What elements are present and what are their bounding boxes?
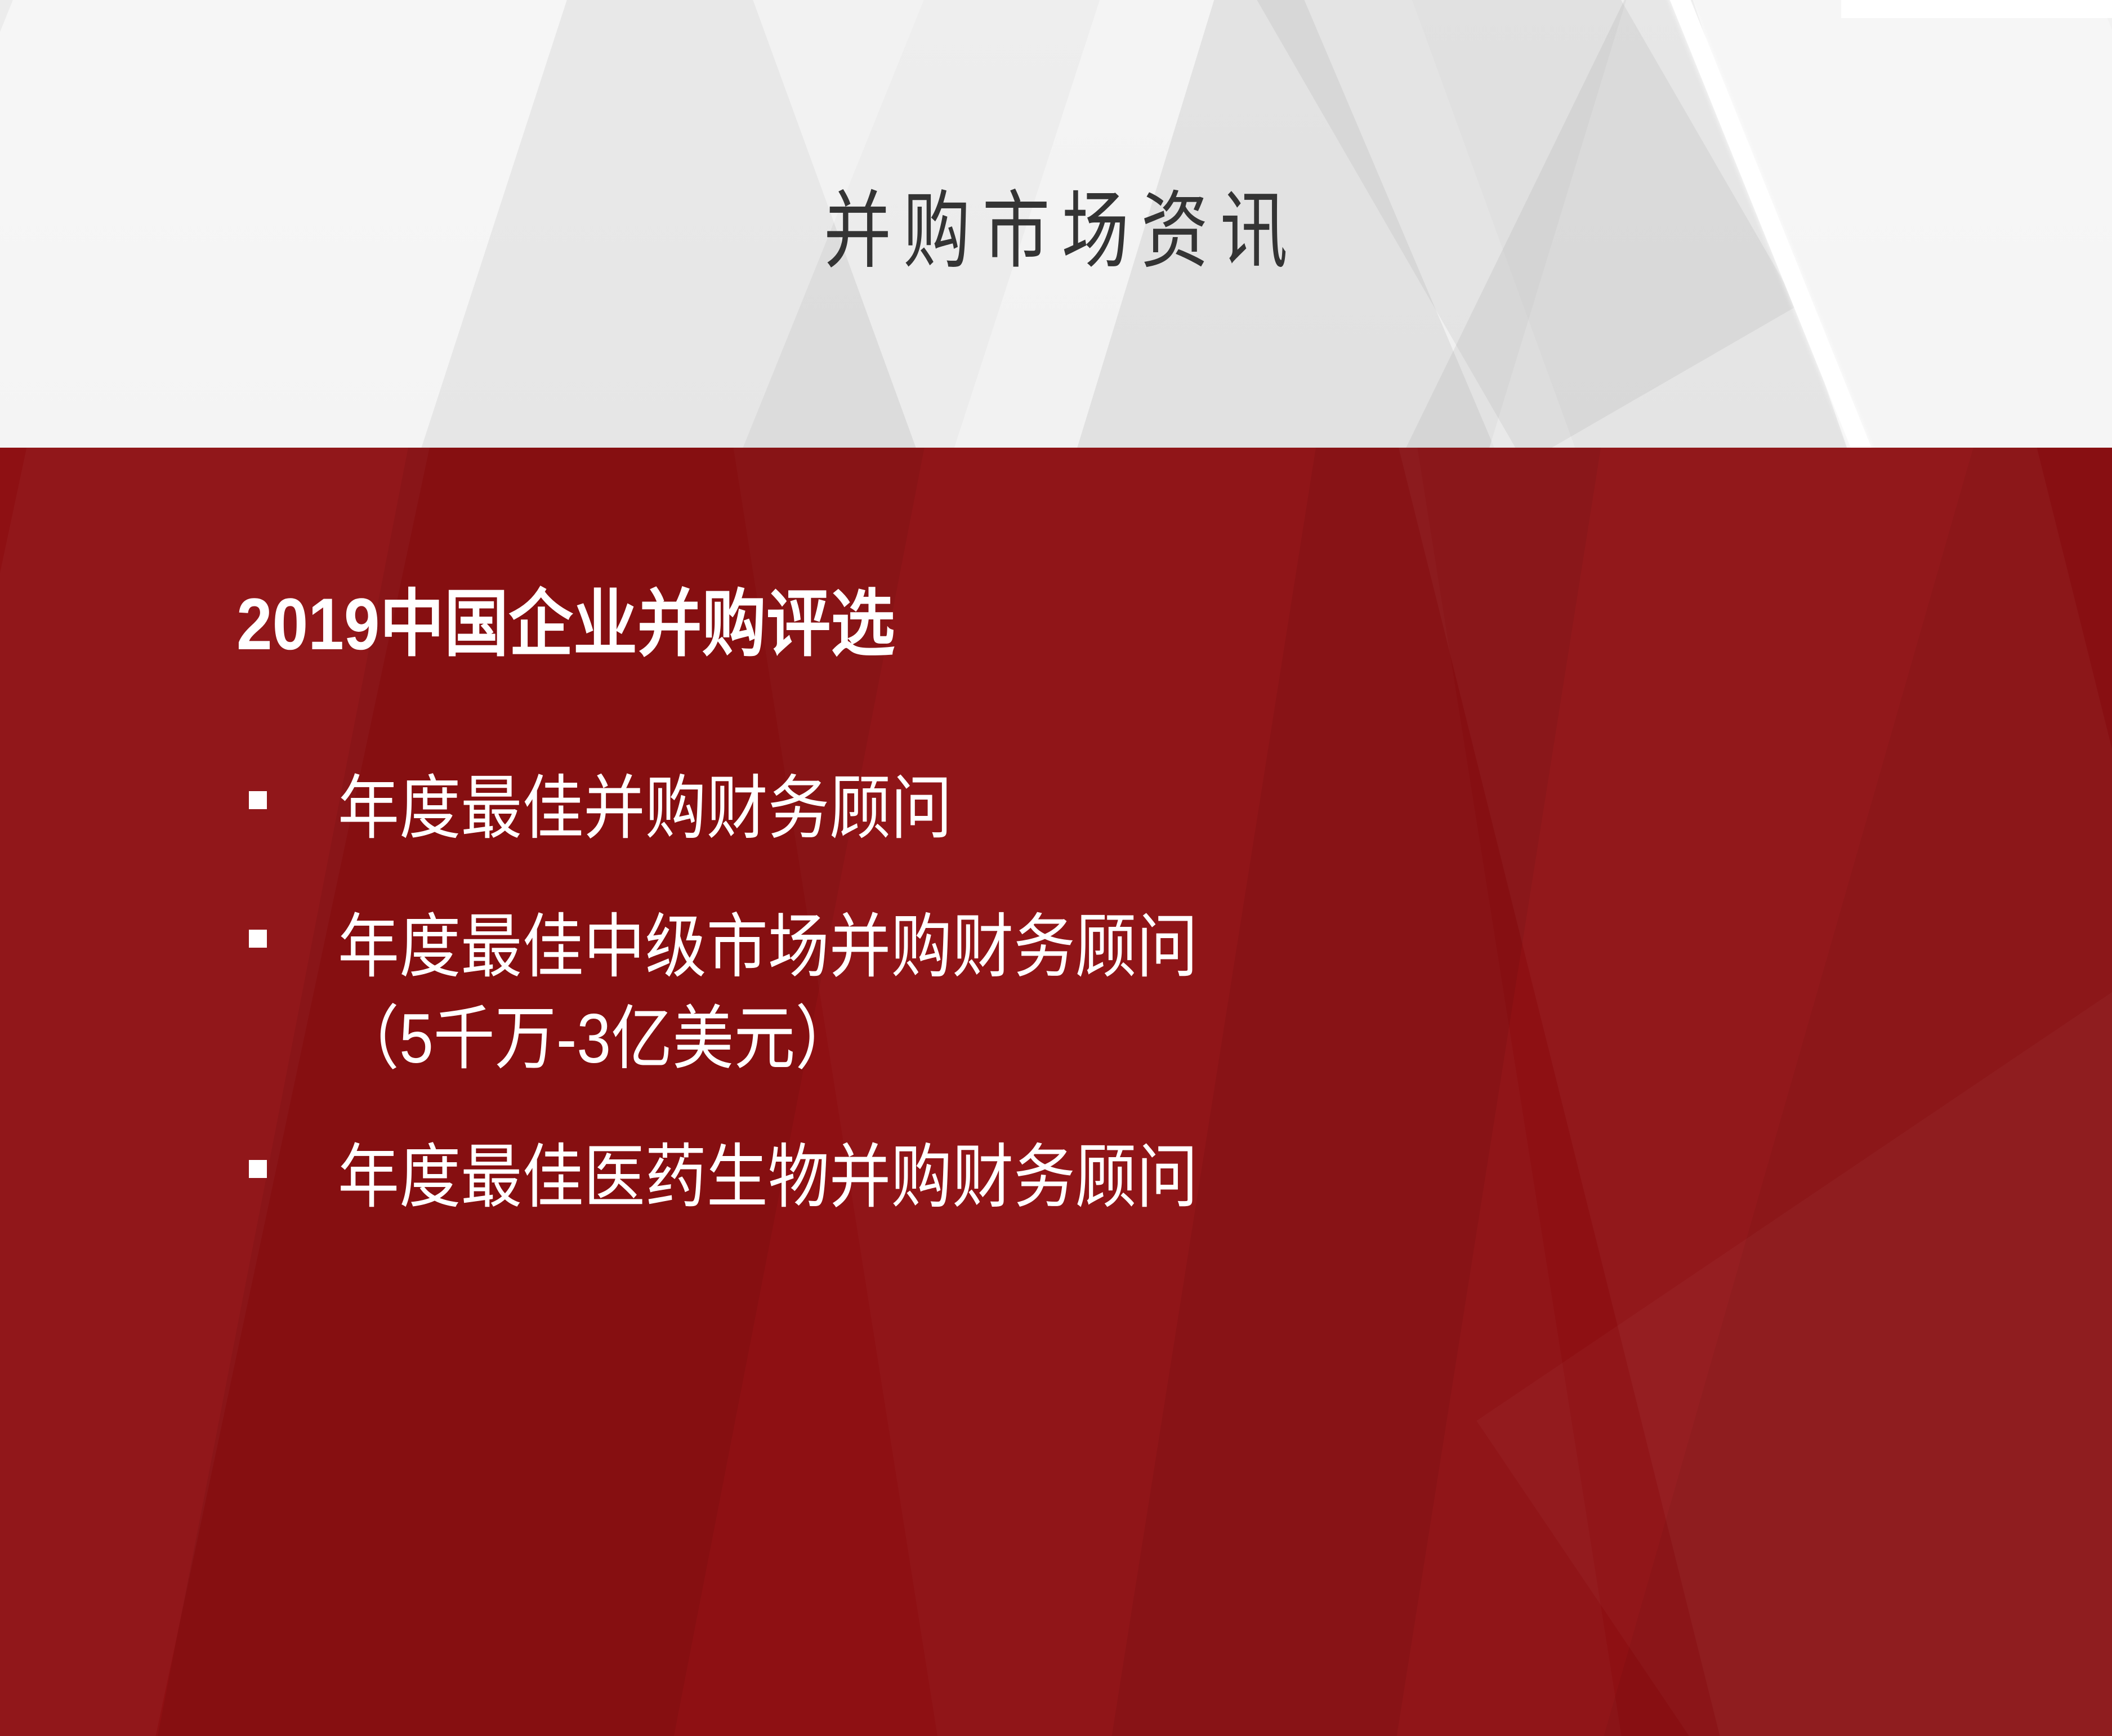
body-content: 2019中国企业并购评选 年度最佳并购财务顾问 年度最佳中级市场并购财务顾问 （…	[0, 448, 2112, 1736]
list-item-label: 年度最佳并购财务顾问	[338, 763, 1785, 855]
list-item: 年度最佳中级市场并购财务顾问 （5千万-3亿美元）	[236, 902, 1982, 1086]
slide-title-text: 并购市场资讯	[812, 175, 1300, 273]
list-item: 年度最佳并购财务顾问	[236, 763, 1982, 855]
list-item: 年度最佳医药生物并购财务顾问	[236, 1132, 1982, 1224]
list-item-label: 年度最佳医药生物并购财务顾问	[338, 1132, 1785, 1224]
slide-header-banner: 并购市场资讯	[0, 0, 2112, 448]
slide-body: 2019中国企业并购评选 年度最佳并购财务顾问 年度最佳中级市场并购财务顾问 （…	[0, 448, 2112, 1736]
presentation-slide: 并购市场资讯 2019中国企业并购评选 年度最佳并购财务顾问 年度最佳中级市场并…	[0, 0, 2112, 1736]
list-item-label: 年度最佳中级市场并购财务顾问 （5千万-3亿美元）	[338, 902, 1785, 1086]
square-bullet-icon	[249, 930, 267, 948]
square-bullet-icon	[249, 791, 267, 809]
square-bullet-icon	[249, 1160, 267, 1178]
section-heading: 2019中国企业并购评选	[236, 587, 895, 661]
award-category-list: 年度最佳并购财务顾问 年度最佳中级市场并购财务顾问 （5千万-3亿美元） 年度最…	[236, 763, 1982, 1270]
slide-title: 并购市场资讯	[0, 0, 2112, 448]
